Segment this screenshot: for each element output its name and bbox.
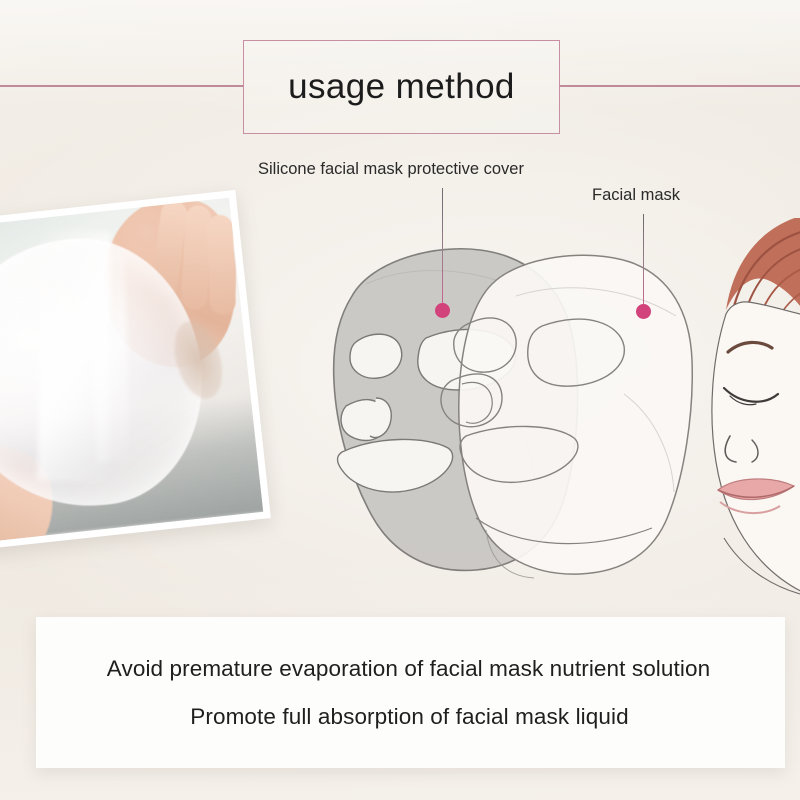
callout-label-facial-mask: Facial mask: [592, 186, 680, 205]
callout-dot-facial-mask: [636, 304, 651, 319]
benefits-panel: Avoid premature evaporation of facial ma…: [36, 617, 785, 768]
benefit-line-2: Promote full absorption of facial mask l…: [190, 704, 628, 730]
page-title: usage method: [288, 67, 515, 107]
callout-leader-silicone-cover: [442, 188, 443, 308]
product-photo-card: [0, 190, 271, 552]
benefit-line-1: Avoid premature evaporation of facial ma…: [107, 656, 710, 682]
callout-dot-silicone-cover: [435, 303, 450, 318]
sheet-mask-body: [459, 255, 692, 574]
silicone-left-eye-hole: [350, 334, 402, 378]
header-rule-left: [0, 85, 244, 87]
mask-illustration-group: [280, 230, 750, 610]
poster-canvas: usage method: [0, 0, 800, 800]
product-photo-image: [0, 198, 263, 545]
callout-leader-facial-mask: [643, 214, 644, 310]
callout-label-silicone-cover: Silicone facial mask protective cover: [258, 160, 524, 179]
header-rule-right: [560, 85, 800, 87]
title-box: usage method: [243, 40, 560, 134]
photo-finger: [206, 214, 236, 315]
